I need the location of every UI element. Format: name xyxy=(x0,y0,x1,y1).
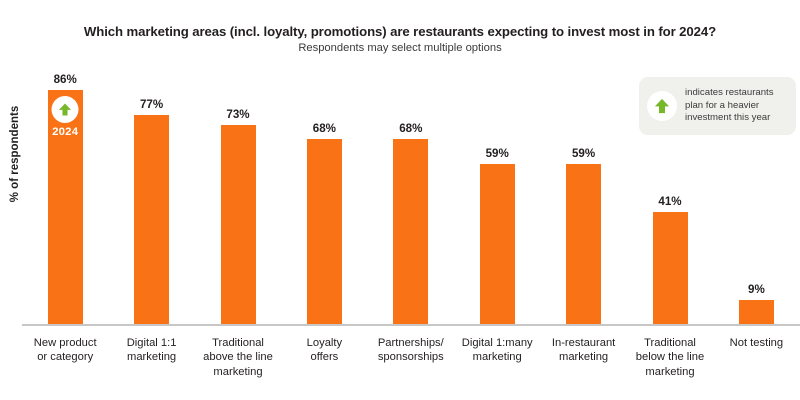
x-axis-category-label: Traditional below the line marketing xyxy=(627,336,713,379)
bar[interactable] xyxy=(739,300,774,324)
x-axis-category-label: Traditional above the line marketing xyxy=(195,336,281,379)
x-axis-category-label: Digital 1:1 marketing xyxy=(108,336,194,365)
bar-group: 68% xyxy=(307,139,342,324)
bar-group: 86%2024 xyxy=(48,90,83,324)
bar-marker-2024: 2024 xyxy=(48,96,83,138)
bar-group: 9% xyxy=(739,300,774,324)
x-axis-category-label: New product or category xyxy=(22,336,108,365)
bar[interactable] xyxy=(566,164,601,324)
x-axis-category-label: Not testing xyxy=(713,336,799,350)
up-arrow-circle-icon xyxy=(647,91,677,121)
y-axis-label: % of respondents xyxy=(9,89,21,219)
bar-value-label: 73% xyxy=(226,108,249,121)
bar[interactable] xyxy=(307,139,342,324)
bar-group: 68% xyxy=(393,139,428,324)
bar-marker-year-label: 2024 xyxy=(48,126,83,138)
up-arrow-circle-icon xyxy=(52,96,79,123)
bar-value-label: 59% xyxy=(486,147,509,160)
legend-text: indicates restaurants plan for a heavier… xyxy=(685,87,774,124)
bar-value-label: 41% xyxy=(658,195,681,208)
legend-box: indicates restaurants plan for a heavier… xyxy=(639,77,796,135)
x-axis-line xyxy=(22,324,800,326)
bar-group: 59% xyxy=(566,164,601,324)
x-axis-category-label: Partnerships/ sponsorships xyxy=(368,336,454,365)
bar[interactable] xyxy=(393,139,428,324)
bar-value-label: 68% xyxy=(399,122,422,135)
bar-group: 77% xyxy=(134,115,169,324)
bar[interactable] xyxy=(134,115,169,324)
bar-value-label: 77% xyxy=(140,98,163,111)
bar-value-label: 9% xyxy=(748,283,765,296)
bar-group: 73% xyxy=(221,125,256,324)
x-axis-category-label: In-restaurant marketing xyxy=(540,336,626,365)
bar[interactable] xyxy=(653,212,688,324)
bar[interactable] xyxy=(221,125,256,324)
bar-chart-plot-area: % of respondents 86%2024New product or c… xyxy=(0,0,800,400)
bar[interactable] xyxy=(480,164,515,324)
bar-value-label: 68% xyxy=(313,122,336,135)
bar-group: 41% xyxy=(653,212,688,324)
bar-value-label: 59% xyxy=(572,147,595,160)
x-axis-category-label: Loyalty offers xyxy=(281,336,367,365)
bar-value-label: 86% xyxy=(54,73,77,86)
x-axis-category-label: Digital 1:many marketing xyxy=(454,336,540,365)
bar-group: 59% xyxy=(480,164,515,324)
